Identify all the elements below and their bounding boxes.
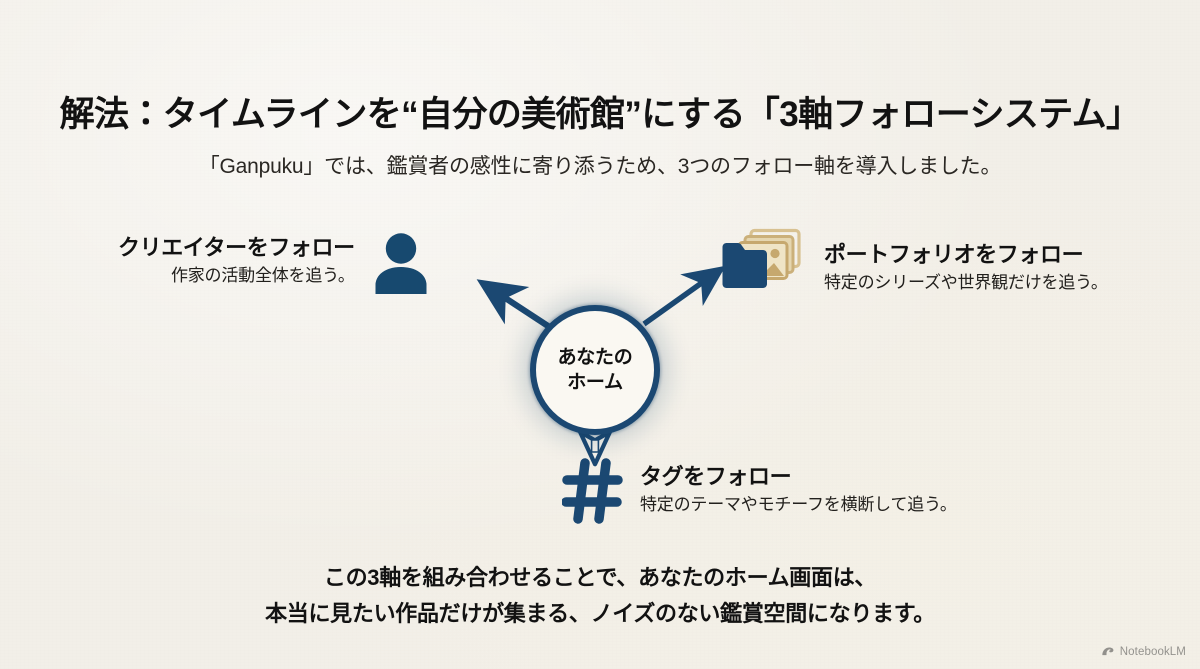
- node-creator-text: クリエイターをフォロー 作家の活動全体を追う。: [118, 232, 355, 287]
- node-portfolio-text: ポートフォリオをフォロー 特定のシリーズや世界観だけを追う。: [824, 228, 1108, 294]
- footer-line-2: 本当に見たい作品だけが集まる、ノイズのない鑑賞空間になります。: [0, 596, 1200, 632]
- hub-label-line2: ホーム: [567, 370, 623, 395]
- hub-your-home[interactable]: あなたの ホーム: [530, 305, 660, 435]
- notebooklm-watermark: NotebookLM: [1101, 645, 1186, 659]
- node-follow-tag[interactable]: タグをフォロー 特定のテーマやモチーフを横断して追う。: [562, 458, 957, 524]
- folder-photos-icon: [720, 228, 810, 290]
- node-creator-desc: 作家の活動全体を追う。: [118, 266, 355, 286]
- slide-canvas: 解法：タイムラインを“自分の美術館”にする「3軸フォローシステム」 「Ganpu…: [0, 0, 1200, 669]
- three-axis-diagram: あなたの ホーム クリエイターをフォロー 作家の活動全体を追う。: [0, 200, 1200, 550]
- page-subtitle: 「Ganpuku」では、鑑賞者の感性に寄り添うため、3つのフォロー軸を導入しまし…: [0, 150, 1200, 180]
- node-follow-creator[interactable]: クリエイターをフォロー 作家の活動全体を追う。: [118, 232, 431, 294]
- footer-line-1: この3軸を組み合わせることで、あなたのホーム画面は、: [0, 560, 1200, 596]
- node-tag-title: タグをフォロー: [640, 464, 957, 489]
- person-icon: [371, 232, 431, 294]
- node-creator-title: クリエイターをフォロー: [118, 235, 355, 260]
- arrow-down-outline: [592, 440, 599, 452]
- page-title: 解法：タイムラインを“自分の美術館”にする「3軸フォローシステム」: [0, 86, 1200, 137]
- notebooklm-label: NotebookLM: [1120, 646, 1186, 658]
- footer-summary: この3軸を組み合わせることで、あなたのホーム画面は、 本当に見たい作品だけが集ま…: [0, 560, 1200, 633]
- notebooklm-icon: [1101, 645, 1115, 659]
- node-tag-text: タグをフォロー 特定のテーマやモチーフを横断して追う。: [640, 458, 957, 516]
- node-portfolio-title: ポートフォリオをフォロー: [824, 242, 1108, 267]
- hashtag-icon: [562, 458, 624, 524]
- arrow-up-right: [644, 272, 717, 324]
- arrow-up-left: [487, 286, 548, 326]
- node-follow-portfolio[interactable]: ポートフォリオをフォロー 特定のシリーズや世界観だけを追う。: [720, 228, 1108, 294]
- hub-label-line1: あなたの: [558, 345, 633, 370]
- node-portfolio-desc: 特定のシリーズや世界観だけを追う。: [824, 273, 1108, 293]
- node-tag-desc: 特定のテーマやモチーフを横断して追う。: [640, 495, 957, 515]
